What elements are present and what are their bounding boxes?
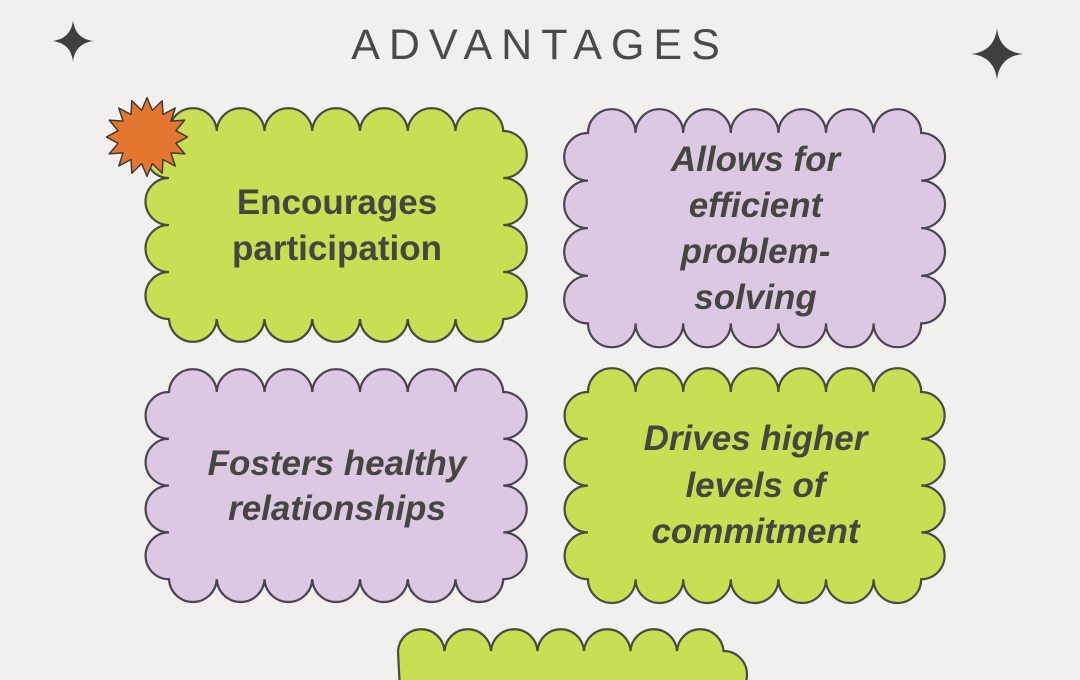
advantage-card-partial-bottom[interactable] (375, 628, 745, 680)
scalloped-card-shape (565, 110, 946, 348)
scalloped-card-shape (375, 628, 745, 680)
starburst-icon (106, 96, 188, 178)
advantage-card-encourages-participation[interactable]: Encourages participation (146, 108, 528, 343)
scalloped-card-shape (146, 108, 528, 343)
scalloped-card-shape (565, 369, 946, 603)
scalloped-card-shape (146, 369, 528, 603)
infographic-canvas: ADVANTAGES Encourages participation Allo… (0, 0, 1080, 680)
advantage-card-fosters-healthy-relationships[interactable]: Fosters healthy relationships (146, 369, 528, 603)
four-point-star-icon-left (52, 18, 94, 64)
advantage-card-drives-higher-commitment[interactable]: Drives higher levels of commitment (565, 369, 946, 603)
four-point-star-icon-right (971, 24, 1023, 84)
page-title: ADVANTAGES (0, 24, 1080, 67)
advantage-card-efficient-problem-solving[interactable]: Allows for efficient problem- solving (565, 110, 946, 348)
